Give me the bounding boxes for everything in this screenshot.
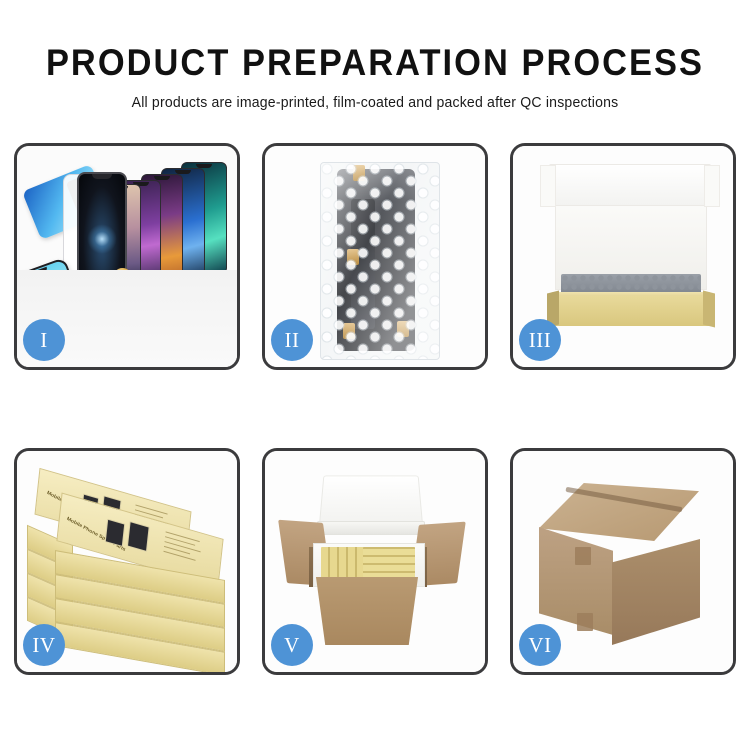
screw-part: [219, 342, 226, 346]
page-title: PRODUCT PREPARATION PROCESS: [26, 44, 724, 81]
connector-grid-part: [103, 292, 129, 314]
carton-right-face: [612, 539, 700, 645]
process-step-2: II: [262, 143, 488, 370]
small-part: [83, 312, 99, 321]
small-part: [91, 324, 104, 335]
label-phone-image: [105, 519, 126, 547]
carton-tab: [577, 613, 593, 631]
foam-lid: [549, 164, 711, 206]
process-step-grid: I II: [14, 143, 736, 735]
step-badge-2: II: [271, 319, 313, 361]
process-step-6: VI: [510, 448, 736, 675]
bubble-wrap-bag: [320, 162, 440, 360]
opened-phone-chassis: [138, 276, 233, 360]
carton-tab: [575, 547, 591, 565]
step-badge-6: VI: [519, 624, 561, 666]
process-step-1: I: [14, 143, 240, 370]
small-part: [127, 318, 135, 326]
screw-part: [207, 336, 216, 341]
carton-front-panel: [309, 577, 425, 645]
flex-cable-part: [133, 296, 151, 302]
styrofoam-lid-lip: [317, 521, 425, 535]
flex-cable-part: [133, 306, 155, 311]
carton-left-face: [539, 527, 613, 635]
label-phone-image: [127, 521, 150, 552]
step-badge-3: III: [519, 319, 561, 361]
front-glass-assembly: [77, 172, 127, 288]
step-badge-5: V: [271, 624, 313, 666]
small-part: [141, 272, 161, 279]
kraft-box-front: [549, 296, 713, 326]
small-part: [89, 274, 111, 279]
step-badge-4: IV: [23, 624, 65, 666]
tweezers-tool: [206, 280, 227, 328]
small-part: [165, 276, 177, 282]
process-step-3: III: [510, 143, 736, 370]
process-step-4: Mobile Phone Spare Parts Mobile Phone Sp…: [14, 448, 240, 675]
gold-coil-part: [113, 268, 132, 287]
packed-yellow-boxes: [363, 547, 415, 579]
step-badge-1: I: [23, 319, 65, 361]
product-preparation-infographic: PRODUCT PREPARATION PROCESS All products…: [0, 0, 750, 750]
speaker-part: [111, 322, 123, 335]
page-subtitle: All products are image-printed, film-coa…: [11, 95, 739, 111]
small-part: [69, 322, 78, 336]
process-step-5: V: [262, 448, 488, 675]
film-sheen: [321, 163, 439, 359]
carton-top-face: [539, 483, 699, 541]
small-part: [83, 296, 93, 306]
header: PRODUCT PREPARATION PROCESS All products…: [0, 0, 750, 111]
